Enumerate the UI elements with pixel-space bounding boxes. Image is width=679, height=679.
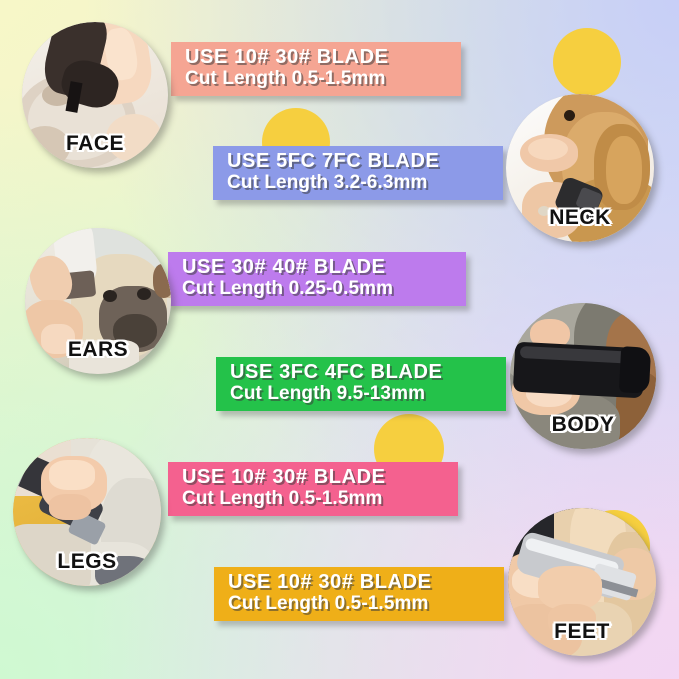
photo-ears-caption: EARS bbox=[25, 338, 171, 362]
banner-feet-line2: Cut Length 0.5-1.5mm bbox=[228, 594, 492, 613]
banner-neck-line2: Cut Length 3.2-6.3mm bbox=[227, 173, 491, 192]
photo-face-caption: FACE bbox=[22, 132, 168, 156]
decorative-circle-top-right bbox=[553, 28, 621, 96]
photo-face: FACE bbox=[22, 22, 168, 168]
photo-body: BODY bbox=[510, 303, 656, 449]
infographic-canvas: USE 10# 30# BLADE Cut Length 0.5-1.5mm F… bbox=[0, 0, 679, 679]
banner-feet-line1: USE 10# 30# BLADE bbox=[228, 572, 492, 592]
banner-neck: USE 5FC 7FC BLADE Cut Length 3.2-6.3mm bbox=[213, 146, 503, 200]
photo-feet: FEET bbox=[508, 508, 656, 656]
photo-ears: EARS bbox=[25, 228, 171, 374]
banner-face-line2: Cut Length 0.5-1.5mm bbox=[185, 69, 449, 88]
photo-legs-caption: LEGS bbox=[13, 550, 161, 574]
banner-legs: USE 10# 30# BLADE Cut Length 0.5-1.5mm bbox=[168, 462, 458, 516]
banner-ears-line1: USE 30# 40# BLADE bbox=[182, 257, 454, 277]
banner-ears-line2: Cut Length 0.25-0.5mm bbox=[182, 279, 454, 298]
banner-legs-line2: Cut Length 0.5-1.5mm bbox=[182, 489, 446, 508]
photo-body-caption: BODY bbox=[510, 413, 656, 437]
photo-feet-caption: FEET bbox=[508, 620, 656, 644]
banner-ears: USE 30# 40# BLADE Cut Length 0.25-0.5mm bbox=[168, 252, 466, 306]
photo-neck: NECK bbox=[506, 94, 654, 242]
banner-feet: USE 10# 30# BLADE Cut Length 0.5-1.5mm bbox=[214, 567, 504, 621]
banner-neck-line1: USE 5FC 7FC BLADE bbox=[227, 151, 491, 171]
banner-legs-line1: USE 10# 30# BLADE bbox=[182, 467, 446, 487]
photo-neck-caption: NECK bbox=[506, 206, 654, 230]
photo-legs: LEGS bbox=[13, 438, 161, 586]
banner-face: USE 10# 30# BLADE Cut Length 0.5-1.5mm bbox=[171, 42, 461, 96]
banner-body: USE 3FC 4FC BLADE Cut Length 9.5-13mm bbox=[216, 357, 506, 411]
banner-body-line2: Cut Length 9.5-13mm bbox=[230, 384, 494, 403]
banner-face-line1: USE 10# 30# BLADE bbox=[185, 47, 449, 67]
banner-body-line1: USE 3FC 4FC BLADE bbox=[230, 362, 494, 382]
